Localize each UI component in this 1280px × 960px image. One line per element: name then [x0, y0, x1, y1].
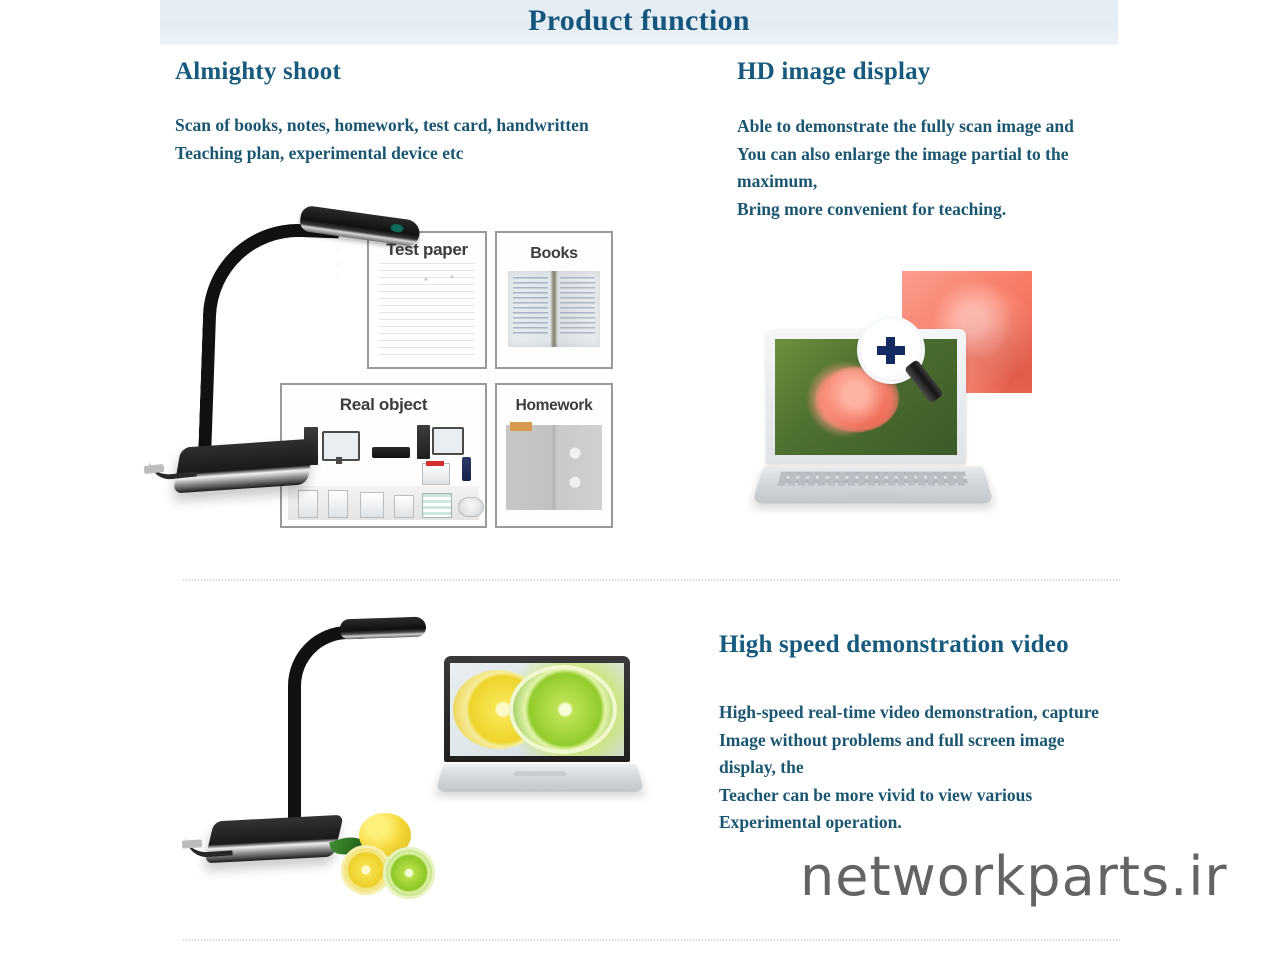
- shelf-item-4: [394, 495, 414, 518]
- image-document-camera-citrus-laptop: [180, 612, 640, 917]
- panel-test-paper: Test paper: [367, 231, 487, 369]
- image-document-camera-scan-targets: Test paper Books Real object Homework: [168, 205, 618, 545]
- laptop-trackpad-2: [514, 771, 566, 776]
- panel-label-test-paper: Test paper: [369, 240, 485, 260]
- magnifier-plus-vertical: [886, 337, 895, 364]
- shelf-item-6: [458, 497, 484, 517]
- object-red-accent: [426, 461, 444, 466]
- object-pc-tower-2: [417, 425, 430, 459]
- citrus-fruit-group: [325, 807, 443, 902]
- panel-label-homework: Homework: [497, 397, 611, 415]
- object-usb-drive: [462, 457, 471, 481]
- open-book-graphic: [508, 271, 600, 347]
- laptop-lid-2: [444, 656, 630, 762]
- camera-head-2: [340, 617, 427, 640]
- divider-bottom: [182, 939, 1120, 941]
- section-heading-almighty-shoot: Almighty shoot: [175, 58, 341, 86]
- laptop-keyboard: [778, 472, 969, 486]
- laptop-base-2: [435, 763, 644, 791]
- section-body-hd-image-display: Able to demonstrate the fully scan image…: [737, 113, 1127, 223]
- object-small-device: [422, 463, 450, 485]
- section-heading-high-speed-video: High speed demonstration video: [719, 631, 1069, 659]
- page-title: Product function: [160, 4, 1118, 38]
- panel-label-books: Books: [497, 245, 611, 263]
- laptop-trackpad: [848, 494, 898, 500]
- plus-magnifier-icon: [860, 319, 938, 415]
- laptop-device-2: [440, 656, 640, 806]
- magnifier-handle: [904, 359, 944, 404]
- scanned-sheet-graphic: [379, 263, 475, 357]
- camera-plug-2: [182, 839, 203, 848]
- camera-gooseneck: [198, 221, 339, 468]
- site-watermark: networkparts.ir: [800, 845, 1228, 908]
- lime-half: [383, 847, 435, 899]
- document-camera-device: [168, 215, 383, 535]
- laptop-base: [752, 466, 994, 503]
- homework-notebook-graphic: [506, 425, 602, 510]
- object-monitor-2: [432, 427, 464, 455]
- shelf-item-5: [422, 493, 452, 518]
- section-heading-hd-image-display: HD image display: [737, 58, 931, 86]
- section-body-high-speed-video: High-speed real-time video demonstration…: [719, 699, 1119, 837]
- image-laptop-rose-magnifier: [720, 263, 1055, 548]
- section-body-almighty-shoot: Scan of books, notes, homework, test car…: [175, 112, 645, 167]
- screen-lime-slice: [509, 665, 617, 754]
- panel-homework: Homework: [495, 383, 613, 528]
- page-header-bar: Product function: [160, 0, 1118, 45]
- panel-books: Books: [495, 231, 613, 369]
- laptop-screen-2: [450, 663, 624, 756]
- divider-middle: [182, 579, 1120, 581]
